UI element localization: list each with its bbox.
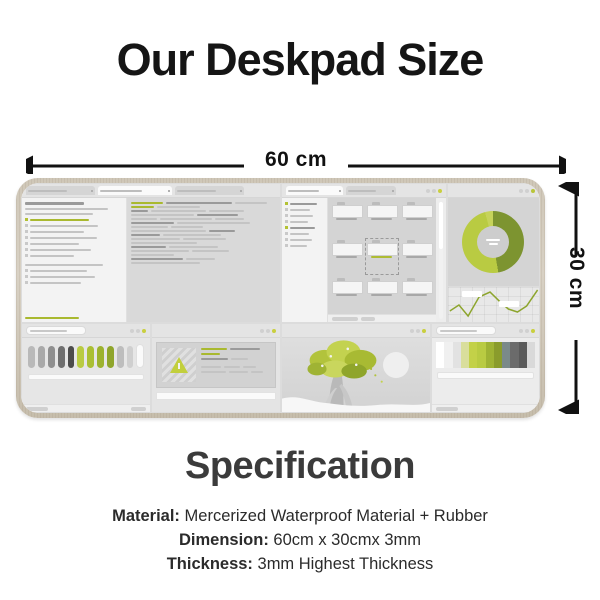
folder-item[interactable] — [332, 202, 362, 235]
color-swatch[interactable] — [461, 342, 469, 368]
close-window-icon[interactable] — [422, 329, 426, 333]
browser-tab-active[interactable] — [98, 186, 172, 195]
window-controls[interactable] — [410, 329, 426, 333]
vertical-scrollbar[interactable] — [439, 202, 443, 319]
equalizer-body — [22, 338, 150, 413]
file-manager-body — [282, 198, 446, 323]
close-icon[interactable] — [339, 190, 341, 192]
tree-item[interactable] — [285, 244, 324, 247]
equalizer-bars[interactable] — [22, 338, 150, 374]
wallpaper-titlebar — [282, 324, 431, 338]
minimize-icon[interactable] — [426, 189, 430, 193]
donut-center-label — [477, 226, 509, 258]
minimize-icon[interactable] — [519, 189, 523, 193]
file-manager-window — [281, 183, 447, 323]
equalizer-bar[interactable] — [68, 346, 75, 368]
folder-item[interactable] — [332, 278, 362, 311]
maximize-icon[interactable] — [525, 189, 529, 193]
chart-label-chip — [462, 291, 482, 297]
sidebar-item[interactable] — [25, 275, 123, 278]
equalizer-statusbar — [22, 404, 150, 413]
artwork-top-row — [21, 183, 540, 323]
sidebar-item-active[interactable] — [25, 218, 123, 221]
wallpaper-canvas — [282, 338, 431, 413]
sidebar-item[interactable] — [25, 230, 123, 233]
analytics-titlebar — [448, 184, 539, 198]
swatch-slider[interactable] — [437, 372, 534, 379]
file-grid-region[interactable] — [328, 198, 436, 323]
alert-dialog-window — [151, 323, 281, 413]
color-swatch-strip[interactable] — [436, 342, 535, 368]
alert-body — [152, 338, 280, 413]
sidebar-item[interactable] — [25, 248, 123, 251]
alert-footer-bar — [156, 392, 276, 400]
search-input[interactable] — [26, 326, 86, 335]
code-editor-titlebar — [22, 184, 280, 198]
maximize-icon[interactable] — [136, 329, 140, 333]
folder-item[interactable] — [332, 240, 362, 273]
folder-icon — [332, 278, 362, 292]
sidebar-item[interactable] — [25, 281, 123, 284]
folder-icon — [332, 202, 362, 216]
page-title: Our Deskpad Size — [0, 34, 600, 86]
color-swatch[interactable] — [436, 342, 444, 368]
equalizer-bar[interactable] — [117, 346, 124, 368]
sidebar-item[interactable] — [25, 269, 123, 272]
browser-tab[interactable] — [26, 186, 95, 195]
code-editor-window — [21, 183, 281, 323]
tree-item-active[interactable] — [285, 202, 324, 205]
color-swatch[interactable] — [444, 342, 452, 368]
color-swatch[interactable] — [510, 342, 518, 368]
folder-item[interactable] — [402, 278, 432, 311]
deskpad-print-artwork — [21, 183, 540, 413]
alert-titlebar — [152, 324, 280, 338]
spec-label: Thickness: — [167, 555, 253, 573]
equalizer-bar[interactable] — [58, 346, 65, 368]
equalizer-bar[interactable] — [28, 346, 35, 368]
close-icon[interactable] — [91, 190, 93, 192]
alert-message-box — [156, 342, 276, 388]
equalizer-bar[interactable] — [48, 346, 55, 368]
close-icon[interactable] — [392, 190, 394, 192]
color-swatch[interactable] — [486, 342, 494, 368]
browser-tab[interactable] — [175, 186, 244, 195]
spec-label: Dimension: — [179, 531, 269, 549]
tree-item-active[interactable] — [285, 226, 324, 229]
specification-list: Material: Mercerized Waterproof Material… — [0, 505, 600, 577]
close-icon[interactable] — [240, 190, 242, 192]
spec-row-dimension: Dimension: 60cm x 30cmx 3mm — [0, 529, 600, 553]
folder-item[interactable] — [402, 202, 432, 235]
close-window-icon[interactable] — [531, 329, 535, 333]
deskpad-product-image — [16, 178, 545, 418]
minimize-icon[interactable] — [519, 329, 523, 333]
tree-illustration — [282, 338, 431, 413]
tree-item[interactable] — [285, 208, 324, 211]
folder-item[interactable] — [402, 240, 432, 273]
equalizer-bar[interactable] — [97, 346, 104, 368]
swatch-statusbar — [432, 404, 539, 413]
minimize-icon[interactable] — [260, 329, 264, 333]
width-dimension: 60 cm — [26, 148, 566, 174]
code-editor-body — [22, 198, 280, 323]
browser-tab[interactable] — [346, 186, 397, 195]
color-swatch[interactable] — [477, 342, 485, 368]
sidebar-item[interactable] — [25, 242, 123, 245]
tree-item[interactable] — [285, 214, 324, 217]
window-controls[interactable] — [426, 189, 442, 193]
color-swatch[interactable] — [519, 342, 527, 368]
folder-item[interactable] — [367, 202, 397, 235]
sidebar-item[interactable] — [25, 224, 123, 227]
close-window-icon[interactable] — [272, 329, 276, 333]
donut-chart-region — [448, 198, 539, 286]
file-manager-statusbar — [328, 314, 436, 323]
color-swatch[interactable] — [527, 342, 535, 368]
equalizer-bar[interactable] — [127, 346, 133, 368]
window-controls[interactable] — [519, 189, 535, 193]
equalizer-bar[interactable] — [87, 346, 94, 368]
alert-thumbnail — [162, 348, 196, 382]
minimize-icon[interactable] — [130, 329, 134, 333]
maximize-icon[interactable] — [525, 329, 529, 333]
spec-value: 3mm Highest Thickness — [258, 555, 434, 573]
search-input[interactable] — [436, 326, 496, 335]
color-swatch[interactable] — [502, 342, 510, 368]
height-label: 30 cm — [564, 236, 588, 320]
folder-icon — [367, 240, 397, 254]
chart-label-chip — [499, 301, 519, 307]
color-swatch[interactable] — [494, 342, 502, 368]
folder-item[interactable] — [367, 278, 397, 311]
equalizer-bar[interactable] — [136, 344, 144, 368]
folder-icon — [402, 240, 432, 254]
minimize-icon[interactable] — [410, 329, 414, 333]
folder-item-selected[interactable] — [367, 240, 397, 273]
equalizer-bar[interactable] — [107, 346, 114, 368]
equalizer-bar[interactable] — [77, 346, 84, 368]
folder-icon — [367, 278, 397, 292]
wallpaper-window — [281, 323, 432, 413]
specification-heading: Specification — [0, 445, 600, 488]
tree-item[interactable] — [285, 220, 324, 223]
maximize-icon[interactable] — [432, 189, 436, 193]
width-label: 60 cm — [26, 148, 566, 172]
spec-row-material: Material: Mercerized Waterproof Material… — [0, 505, 600, 529]
maximize-icon[interactable] — [416, 329, 420, 333]
equalizer-titlebar — [22, 324, 150, 338]
folder-icon — [402, 278, 432, 292]
swatch-body — [432, 338, 539, 413]
folder-grid[interactable] — [328, 198, 436, 314]
spec-label: Material: — [112, 507, 180, 525]
color-swatch[interactable] — [469, 342, 477, 368]
gradient-swatch-window — [431, 323, 540, 413]
swatch-titlebar — [432, 324, 539, 338]
code-editor-content[interactable] — [127, 198, 280, 323]
line-chart — [448, 286, 539, 323]
height-dimension: 30 cm — [556, 182, 596, 414]
folder-icon — [402, 202, 432, 216]
window-controls[interactable] — [260, 329, 276, 333]
window-controls[interactable] — [130, 329, 146, 333]
close-window-icon[interactable] — [531, 189, 535, 193]
close-icon[interactable] — [168, 190, 170, 192]
sidebar-item[interactable] — [25, 254, 123, 257]
spec-value: Mercerized Waterproof Material + Rubber — [185, 507, 488, 525]
analytics-window — [447, 183, 540, 323]
alert-text-block — [201, 348, 270, 382]
spec-row-thickness: Thickness: 3mm Highest Thickness — [0, 553, 600, 577]
analytics-body — [448, 198, 539, 323]
folder-icon — [332, 240, 362, 254]
folder-icon — [367, 202, 397, 216]
window-controls[interactable] — [519, 329, 535, 333]
browser-tab-active[interactable] — [286, 186, 343, 195]
artwork-bottom-row — [21, 323, 540, 413]
spec-value: 60cm x 30cmx 3mm — [273, 531, 421, 549]
equalizer-window — [21, 323, 151, 413]
warning-triangle-icon — [170, 357, 188, 373]
slider-track[interactable] — [28, 374, 144, 380]
file-tree-sidebar — [282, 198, 328, 323]
donut-chart — [462, 211, 524, 273]
equalizer-bar[interactable] — [38, 346, 45, 368]
close-window-icon[interactable] — [142, 329, 146, 333]
code-editor-sidebar — [22, 198, 127, 323]
sidebar-item[interactable] — [25, 236, 123, 239]
maximize-icon[interactable] — [266, 329, 270, 333]
tree-item[interactable] — [285, 232, 324, 235]
close-window-icon[interactable] — [438, 189, 442, 193]
color-swatch[interactable] — [453, 342, 461, 368]
file-manager-titlebar — [282, 184, 446, 198]
tree-item[interactable] — [285, 238, 324, 241]
